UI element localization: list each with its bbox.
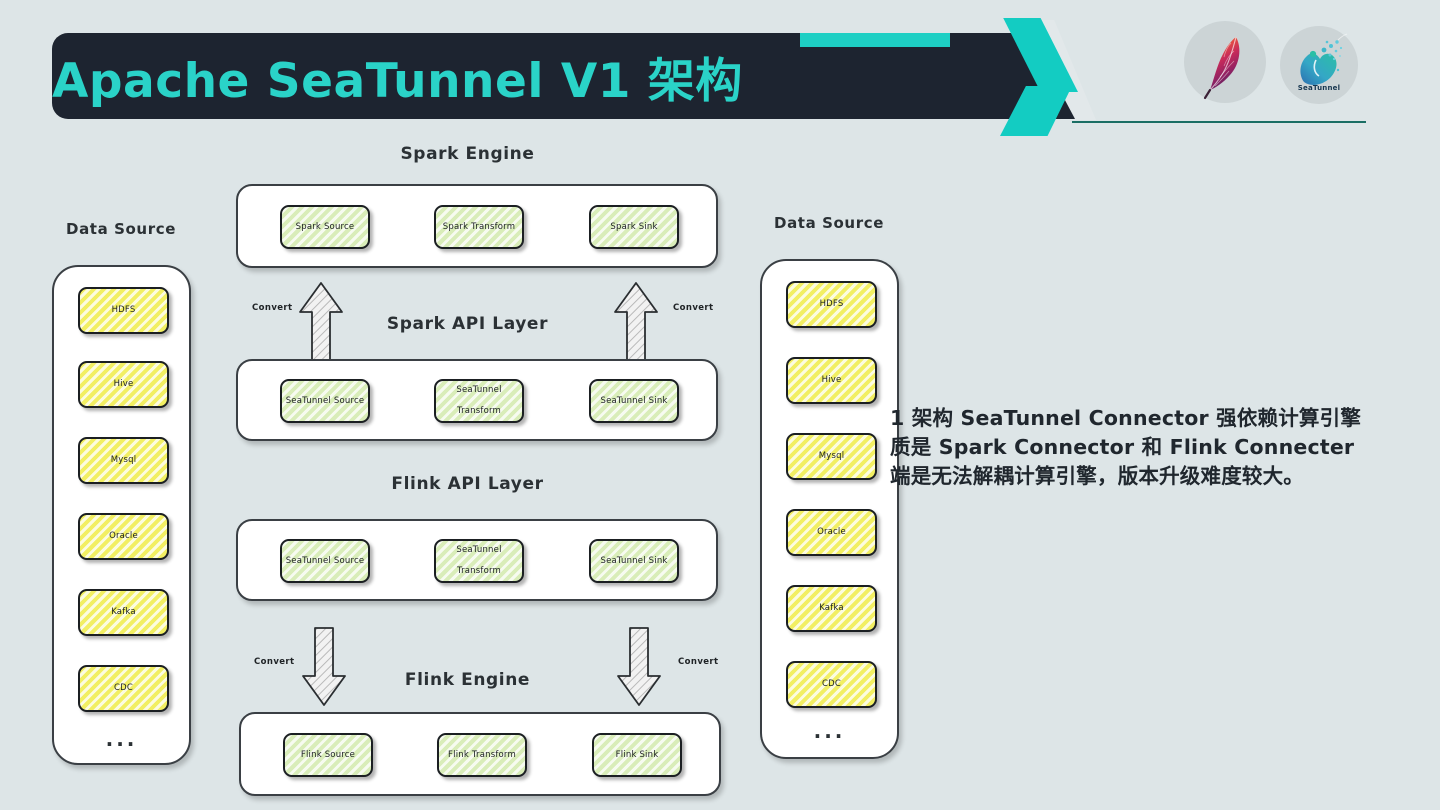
convert-label-right-down: Convert (678, 657, 719, 667)
right-source-item-hive[interactable]: Hive (786, 357, 877, 404)
left-source-item-mysql[interactable]: Mysql (78, 437, 169, 484)
flink-sink-node[interactable]: Flink Sink (592, 733, 682, 777)
flink-engine-title: Flink Engine (330, 670, 605, 690)
right-source-item-cdc[interactable]: CDC (786, 661, 877, 708)
convert-label-left-down: Convert (254, 657, 295, 667)
convert-label-right-up: Convert (673, 303, 714, 313)
seatunnel-logo-label: SeaTunnel (1280, 84, 1358, 92)
left-source-item-oracle[interactable]: Oracle (78, 513, 169, 560)
spark-sink-node[interactable]: Spark Sink (589, 205, 679, 249)
flink-api-layer-title: Flink API Layer (330, 474, 605, 494)
seatunnel-logo: SeaTunnel (1280, 26, 1358, 104)
header-teal-slash-top (968, 18, 1078, 92)
flink-api-seatunnel-source-node[interactable]: SeaTunnel Source (280, 539, 370, 583)
header-accent-notch (800, 33, 950, 47)
spark-api-layer-panel: SeaTunnel Source SeaTunnel Transform Sea… (236, 359, 718, 441)
left-data-source-panel: HDFS Hive Mysql Oracle Kafka CDC ... (52, 265, 191, 765)
spark-api-layer-title: Spark API Layer (330, 314, 605, 334)
header-teal-slash-bottom (1000, 86, 1072, 136)
right-data-source-panel: HDFS Hive Mysql Oracle Kafka CDC ... (760, 259, 899, 759)
apache-feather-logo (1184, 21, 1266, 103)
flink-engine-panel: Flink Source Flink Transform Flink Sink (239, 712, 721, 796)
left-source-more-indicator: ... (54, 727, 189, 751)
spark-api-seatunnel-sink-node[interactable]: SeaTunnel Sink (589, 379, 679, 423)
description-line-1: 1 架构 SeaTunnel Connector 强依赖计算引擎 (890, 404, 1440, 433)
flink-source-node[interactable]: Flink Source (283, 733, 373, 777)
right-source-item-mysql[interactable]: Mysql (786, 433, 877, 480)
left-data-source-title: Data Source (45, 220, 197, 238)
spark-transform-node[interactable]: Spark Transform (434, 205, 524, 249)
spark-api-seatunnel-transform-node[interactable]: SeaTunnel Transform (434, 379, 524, 423)
spark-engine-title: Spark Engine (330, 144, 605, 164)
left-source-item-hive[interactable]: Hive (78, 361, 169, 408)
right-source-item-hdfs[interactable]: HDFS (786, 281, 877, 328)
header-underline-rule (1072, 121, 1366, 123)
convert-arrow-down-left (301, 627, 347, 707)
flink-api-seatunnel-sink-node[interactable]: SeaTunnel Sink (589, 539, 679, 583)
description-line-2: 质是 Spark Connector 和 Flink Connecter (890, 433, 1440, 462)
flink-transform-node[interactable]: Flink Transform (437, 733, 527, 777)
convert-arrow-up-right (613, 281, 659, 361)
right-source-item-kafka[interactable]: Kafka (786, 585, 877, 632)
left-source-item-hdfs[interactable]: HDFS (78, 287, 169, 334)
right-data-source-title: Data Source (753, 214, 905, 232)
left-source-item-cdc[interactable]: CDC (78, 665, 169, 712)
slide-canvas: Apache SeaTunnel V1 架构 (0, 0, 1440, 810)
description-line-3: 端是无法解耦计算引擎，版本升级难度较大。 (890, 462, 1440, 491)
description-paragraph: 1 架构 SeaTunnel Connector 强依赖计算引擎 质是 Spar… (890, 404, 1440, 491)
flink-api-seatunnel-transform-node[interactable]: SeaTunnel Transform (434, 539, 524, 583)
spark-api-seatunnel-source-node[interactable]: SeaTunnel Source (280, 379, 370, 423)
flink-api-layer-panel: SeaTunnel Source SeaTunnel Transform Sea… (236, 519, 718, 601)
left-source-item-kafka[interactable]: Kafka (78, 589, 169, 636)
spark-engine-panel: Spark Source Spark Transform Spark Sink (236, 184, 718, 268)
spark-source-node[interactable]: Spark Source (280, 205, 370, 249)
convert-arrow-down-right (616, 627, 662, 707)
convert-label-left-up: Convert (252, 303, 293, 313)
right-source-item-oracle[interactable]: Oracle (786, 509, 877, 556)
right-source-more-indicator: ... (762, 719, 897, 743)
